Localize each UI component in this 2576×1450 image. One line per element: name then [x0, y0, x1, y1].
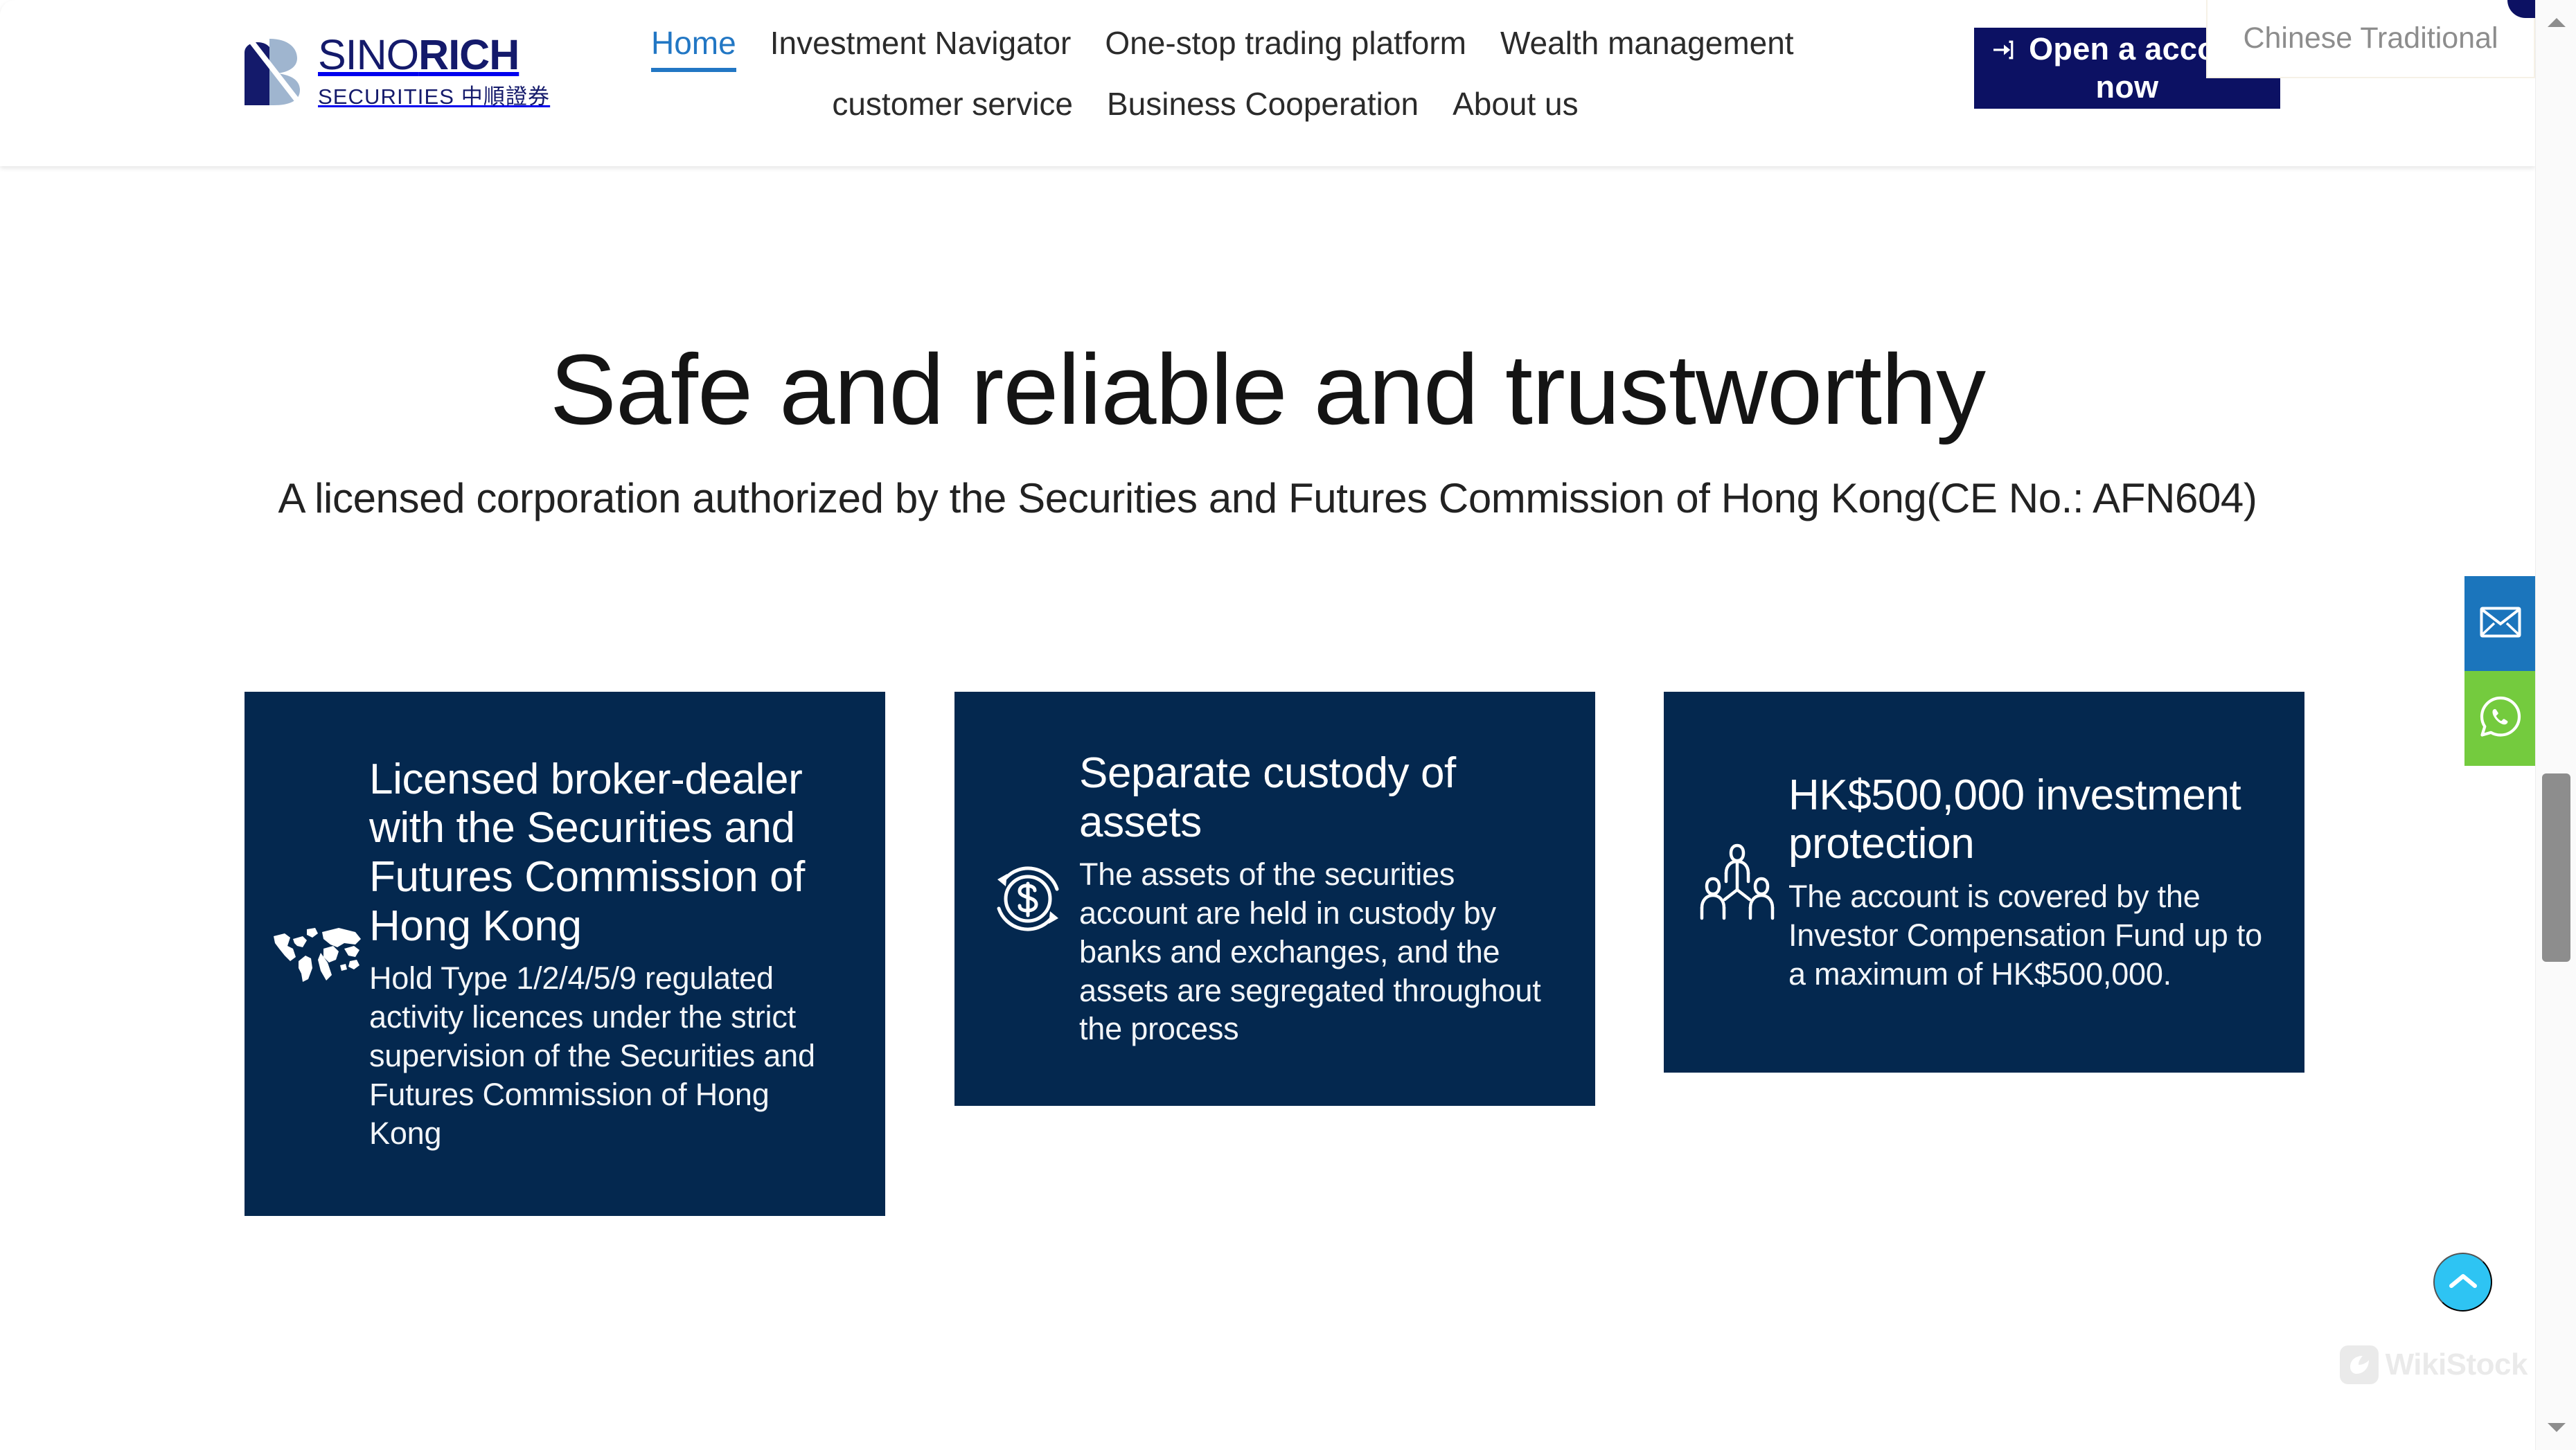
brand-logo[interactable]: SINORICH SECURITIES 中順證券	[239, 33, 550, 110]
language-selector-dropdown[interactable]: Chinese Traditional	[2206, 0, 2535, 78]
envelope-icon	[2480, 607, 2521, 641]
scrollbar-thumb[interactable]	[2542, 773, 2570, 962]
feature-card[interactable]: HK$500,000 investment protection The acc…	[1664, 692, 2304, 1073]
hero-title: Safe and reliable and trustworthy	[0, 335, 2535, 445]
nav-item-home[interactable]: Home	[651, 14, 736, 73]
floating-contact-widgets	[2464, 576, 2536, 766]
language-selected-label: Chinese Traditional	[2243, 21, 2498, 55]
nav-item-business-cooperation[interactable]: Business Cooperation	[1107, 75, 1419, 134]
primary-navigation: Home Investment Navigator One-stop tradi…	[651, 14, 1842, 134]
scrollbar-down-arrow-icon[interactable]	[2536, 1411, 2576, 1444]
wikistock-watermark-label: WikiStock	[2386, 1348, 2528, 1382]
feature-card-body: Separate custody of assets The assets of…	[1079, 749, 1595, 1048]
feature-card-title: Licensed broker-dealer with the Securiti…	[369, 755, 846, 951]
feature-card-body: Licensed broker-dealer with the Securiti…	[369, 755, 885, 1153]
scrollbar-up-arrow-icon[interactable]	[2536, 6, 2576, 39]
dollar-cycle-icon	[954, 854, 1079, 943]
hero-section: Safe and reliable and trustworthy A lice…	[0, 166, 2535, 524]
people-group-icon	[1664, 840, 1788, 924]
feature-card-title: Separate custody of assets	[1079, 749, 1556, 847]
feature-card-description: Hold Type 1/2/4/5/9 regulated activity l…	[369, 959, 846, 1152]
brand-name-primary: SINO	[318, 31, 418, 78]
feature-card-title: HK$500,000 investment protection	[1788, 771, 2266, 869]
world-map-icon	[245, 925, 369, 983]
whatsapp-contact-button[interactable]	[2464, 671, 2536, 766]
nav-item-investment-navigator[interactable]: Investment Navigator	[770, 14, 1072, 73]
email-contact-button[interactable]	[2464, 576, 2536, 671]
feature-card-description: The assets of the securities account are…	[1079, 855, 1556, 1048]
page-scrollbar[interactable]	[2535, 0, 2576, 1450]
wikistock-watermark: WikiStock	[2340, 1345, 2528, 1384]
nav-row-2: customer service Business Cooperation Ab…	[651, 75, 1842, 134]
nav-item-wealth-management[interactable]: Wealth management	[1500, 14, 1794, 73]
hero-subtitle: A licensed corporation authorized by the…	[0, 472, 2535, 524]
chevron-up-icon	[2449, 1272, 2478, 1292]
brand-name: SINORICH	[318, 33, 550, 76]
feature-card[interactable]: Separate custody of assets The assets of…	[954, 692, 1595, 1106]
brand-name-secondary: RICH	[418, 31, 519, 78]
sinorich-logo-mark-icon	[239, 37, 305, 107]
feature-card-description: The account is covered by the Investor C…	[1788, 877, 2266, 993]
wikistock-logo-icon	[2340, 1345, 2379, 1384]
site-header: SINORICH SECURITIES 中順證券 Home Investment…	[0, 0, 2535, 166]
feature-card[interactable]: Licensed broker-dealer with the Securiti…	[245, 692, 885, 1216]
nav-item-customer-service[interactable]: customer service	[832, 75, 1073, 134]
nav-item-one-stop-trading-platform[interactable]: One-stop trading platform	[1105, 14, 1466, 73]
whatsapp-icon	[2479, 695, 2522, 742]
scroll-to-top-button[interactable]	[2433, 1253, 2492, 1312]
feature-card-body: HK$500,000 investment protection The acc…	[1788, 771, 2304, 994]
nav-row-1: Home Investment Navigator One-stop tradi…	[651, 14, 1842, 73]
nav-item-about-us[interactable]: About us	[1453, 75, 1579, 134]
brand-subtitle: SECURITIES 中順證券	[318, 79, 550, 110]
sign-in-arrow-icon	[1989, 35, 2019, 62]
